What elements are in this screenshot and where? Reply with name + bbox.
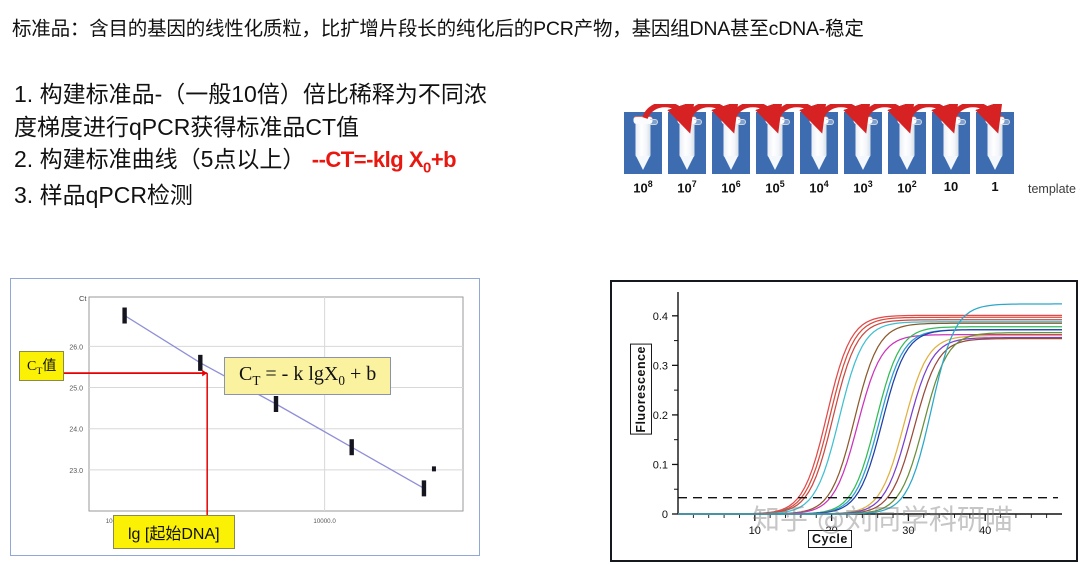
ct-label-suffix: 值 — [42, 359, 56, 374]
tube-label: 104 — [800, 179, 838, 195]
data-point-marker — [122, 308, 126, 324]
tube-icon — [800, 112, 838, 174]
svg-text:23.0: 23.0 — [69, 468, 83, 475]
svg-text:24.0: 24.0 — [69, 427, 83, 434]
data-point-marker — [422, 480, 426, 496]
standard-curve-formula: CT = - k lgX0 + b — [224, 357, 391, 395]
amplification-curve — [678, 333, 1062, 514]
tube-2: 107 — [668, 112, 706, 195]
tube-5: 104 — [800, 112, 838, 195]
tube-icon — [844, 112, 882, 174]
formula-c: C — [239, 363, 252, 385]
tube-label: 10 — [932, 179, 970, 194]
tube-6: 103 — [844, 112, 882, 195]
amplification-curve — [678, 322, 1062, 514]
amplification-curve — [678, 330, 1062, 514]
amplification-plot: 00.10.20.30.4 10203040 — [612, 282, 1076, 560]
amplification-curve — [678, 320, 1062, 514]
tube-9: 1 — [976, 112, 1014, 195]
data-point-marker — [198, 355, 202, 371]
amplification-curve — [678, 336, 1062, 514]
formula-part-b: +b — [431, 147, 456, 172]
svg-text:10: 10 — [749, 525, 761, 537]
amplification-plot-panel: 00.10.20.30.4 10203040 Fluorescence Cycl… — [610, 280, 1078, 562]
cycle-axis-label: Cycle — [808, 530, 852, 548]
data-point-marker — [274, 396, 278, 412]
standard-curve-plot: 26.025.024.023.01000.010000.0 Ct — [11, 279, 478, 554]
svg-text:Ct: Ct — [79, 294, 87, 303]
tube-label: 1 — [976, 179, 1014, 194]
tube-3: 106 — [712, 112, 750, 195]
slide-root: 标准品：含目的基因的线性化质粒，比扩增片段长的纯化后的PCR产物，基因组DNA甚… — [0, 0, 1080, 564]
svg-text:40: 40 — [979, 525, 991, 537]
tube-1: 108 — [624, 112, 662, 195]
svg-text:0.3: 0.3 — [653, 360, 668, 372]
tube-label: 102 — [888, 179, 926, 195]
template-copies-caption: template copies — [1028, 182, 1080, 196]
step-3: 3. 样品qPCR检测 — [14, 179, 604, 212]
svg-text:26.0: 26.0 — [69, 344, 83, 351]
formula-subscript: 0 — [423, 160, 431, 177]
step-1-line-2: 度梯度进行qPCR获得标准品CT值 — [14, 111, 604, 144]
tube-label: 108 — [624, 179, 662, 195]
tube-7: 102 — [888, 112, 926, 195]
amplification-curve — [678, 330, 1062, 514]
formula-mid: = - k lgX — [260, 363, 338, 385]
tube-label: 103 — [844, 179, 882, 195]
tube-icon — [668, 112, 706, 174]
x-axis-annotation: lg [起始DNA] — [113, 515, 235, 549]
tube-4: 105 — [756, 112, 794, 195]
svg-text:10000.0: 10000.0 — [313, 518, 336, 525]
tube-icon — [932, 112, 970, 174]
tube-label: 106 — [712, 179, 750, 195]
step-2-formula: --CT=-klg X0+b — [312, 147, 456, 172]
data-point-marker — [349, 439, 353, 455]
step-2-label: 2. 构建标准曲线（5点以上） — [14, 146, 305, 172]
ct-value-annotation: CT值 — [19, 351, 64, 381]
formula-part-a: --CT=-klg X — [312, 147, 423, 172]
fluorescence-axis-label: Fluorescence — [630, 344, 652, 435]
tube-icon — [712, 112, 750, 174]
tube-icon — [624, 112, 662, 174]
page-title: 标准品：含目的基因的线性化质粒，比扩增片段长的纯化后的PCR产物，基因组DNA甚… — [12, 12, 1072, 41]
amplification-curve — [678, 327, 1062, 514]
svg-text:0.1: 0.1 — [653, 459, 668, 471]
step-2: 2. 构建标准曲线（5点以上） --CT=-klg X0+b — [14, 143, 604, 179]
tube-row: 108107106105104103102101 — [624, 112, 1014, 195]
tube-label: 107 — [668, 179, 706, 195]
svg-text:0: 0 — [662, 509, 668, 521]
tube-icon — [976, 112, 1014, 174]
tube-label: 105 — [756, 179, 794, 195]
tube-icon — [756, 112, 794, 174]
amplification-curve — [678, 323, 1062, 514]
amplification-curve — [678, 315, 1062, 514]
tube-icon — [888, 112, 926, 174]
formula-x-sub: 0 — [338, 373, 345, 388]
ct-label-c: C — [27, 359, 36, 374]
svg-text:25.0: 25.0 — [69, 386, 83, 393]
tube-8: 10 — [932, 112, 970, 195]
formula-end: + b — [345, 363, 376, 385]
steps-list: 1. 构建标准品-（一般10倍）倍比稀释为不同浓 度梯度进行qPCR获得标准品C… — [14, 78, 604, 212]
amplification-curve — [678, 335, 1062, 514]
svg-text:0.4: 0.4 — [653, 311, 668, 323]
amplification-curve — [678, 317, 1062, 514]
step-1-line-1: 1. 构建标准品-（一般10倍）倍比稀释为不同浓 — [14, 78, 604, 111]
serial-dilution-figure: 108107106105104103102101 template copies — [624, 104, 1076, 214]
svg-text:30: 30 — [902, 525, 914, 537]
standard-curve-panel: 26.025.024.023.01000.010000.0 Ct CT值 lg … — [10, 278, 480, 556]
svg-text:0.2: 0.2 — [653, 410, 668, 422]
